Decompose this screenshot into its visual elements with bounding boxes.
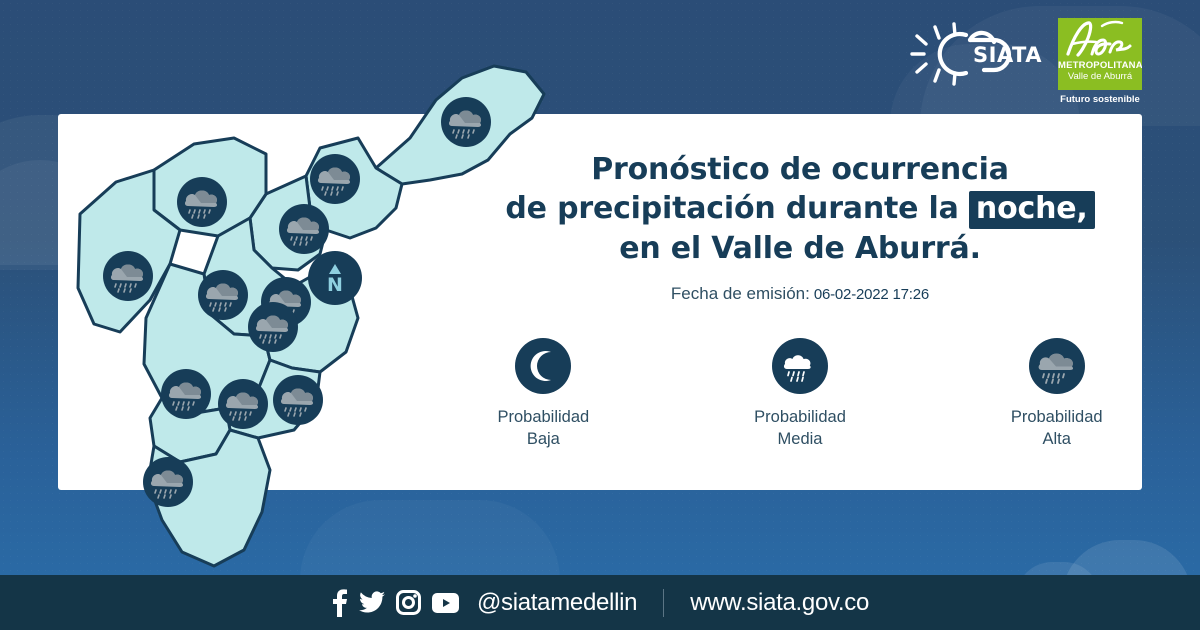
map-marker-badge[interactable] bbox=[247, 301, 299, 353]
ama-tagline: Futuro sostenible bbox=[1058, 94, 1142, 105]
legend-alta-line1: Probabilidad bbox=[983, 406, 1130, 428]
social-handle[interactable]: @siatamedellin bbox=[477, 589, 637, 617]
title-line-3: en el Valle de Aburrá. bbox=[470, 229, 1130, 268]
legend-media-line2: Media bbox=[727, 428, 874, 450]
map-marker-badge[interactable] bbox=[272, 374, 324, 426]
legend-label-alta: Probabilidad Alta bbox=[983, 406, 1130, 450]
legend-label-media: Probabilidad Media bbox=[727, 406, 874, 450]
map-marker-badge[interactable] bbox=[197, 269, 249, 321]
legend-media-line1: Probabilidad bbox=[727, 406, 874, 428]
website-url[interactable]: www.siata.gov.co bbox=[690, 589, 869, 617]
title-line-1: Pronóstico de ocurrencia bbox=[470, 150, 1130, 189]
legend-label-baja: Probabilidad Baja bbox=[470, 406, 617, 450]
map-marker-badge[interactable] bbox=[102, 250, 154, 302]
moon-icon bbox=[515, 338, 571, 394]
map-marker-badge[interactable] bbox=[176, 176, 228, 228]
issue-date-value: 06-02-2022 17:26 bbox=[814, 286, 929, 303]
title-line-2-text: de precipitación durante la bbox=[505, 191, 958, 226]
ama-script-area bbox=[1058, 18, 1142, 62]
compass-label: N bbox=[327, 274, 343, 296]
map-marker-badge[interactable] bbox=[440, 96, 492, 148]
legend-item-baja[interactable]: Probabilidad Baja bbox=[470, 338, 617, 450]
cloud-moon-rain-icon bbox=[772, 338, 828, 394]
footer-divider bbox=[663, 589, 664, 617]
issue-date-row: Fecha de emisión:06-02-2022 17:26 bbox=[470, 284, 1130, 304]
map-marker-badge[interactable] bbox=[217, 378, 269, 430]
footer-bar: @siatamedellin www.siata.gov.co bbox=[0, 575, 1200, 630]
legend-baja-line1: Probabilidad bbox=[470, 406, 617, 428]
facebook-icon[interactable] bbox=[331, 589, 348, 617]
area-metropolitana-logo[interactable]: METROPOLITANA Valle de Aburrá Futuro sos… bbox=[1058, 18, 1142, 110]
cloud-heavy-rain-icon bbox=[1029, 338, 1085, 394]
map-marker-badge[interactable] bbox=[142, 456, 194, 508]
siata-logo[interactable]: SIATA bbox=[904, 18, 1044, 92]
logo-group: SIATA METROPOLITANA Valle de Aburrá Futu… bbox=[904, 18, 1142, 110]
page-title: Pronóstico de ocurrencia de precipitació… bbox=[470, 150, 1130, 268]
legend-item-media[interactable]: Probabilidad Media bbox=[727, 338, 874, 450]
issue-date-label: Fecha de emisión: bbox=[671, 284, 810, 303]
map-marker-badge[interactable] bbox=[309, 153, 361, 205]
siata-logo-text: SIATA bbox=[973, 43, 1042, 67]
ama-line1: METROPOLITANA bbox=[1058, 60, 1142, 71]
legend-item-alta[interactable]: Probabilidad Alta bbox=[983, 338, 1130, 450]
instagram-icon[interactable] bbox=[396, 590, 421, 615]
compass-rose: N bbox=[308, 251, 362, 305]
legend-alta-line2: Alta bbox=[983, 428, 1130, 450]
ama-green-box: METROPOLITANA Valle de Aburrá bbox=[1058, 18, 1142, 90]
map-marker-badge[interactable] bbox=[160, 368, 212, 420]
youtube-icon[interactable] bbox=[432, 593, 459, 613]
twitter-icon[interactable] bbox=[359, 591, 385, 615]
title-line-2: de precipitación durante la noche, bbox=[470, 189, 1130, 229]
forecast-panel: Pronóstico de ocurrencia de precipitació… bbox=[470, 150, 1130, 450]
probability-legend: Probabilidad Baja bbox=[470, 338, 1130, 450]
social-icons bbox=[331, 589, 459, 617]
legend-baja-line2: Baja bbox=[470, 428, 617, 450]
ama-line2: Valle de Aburrá bbox=[1058, 71, 1142, 82]
map-marker-badge[interactable] bbox=[278, 203, 330, 255]
title-highlight-period: noche, bbox=[969, 191, 1095, 229]
infographic-root: SIATA METROPOLITANA Valle de Aburrá Futu… bbox=[0, 0, 1200, 630]
